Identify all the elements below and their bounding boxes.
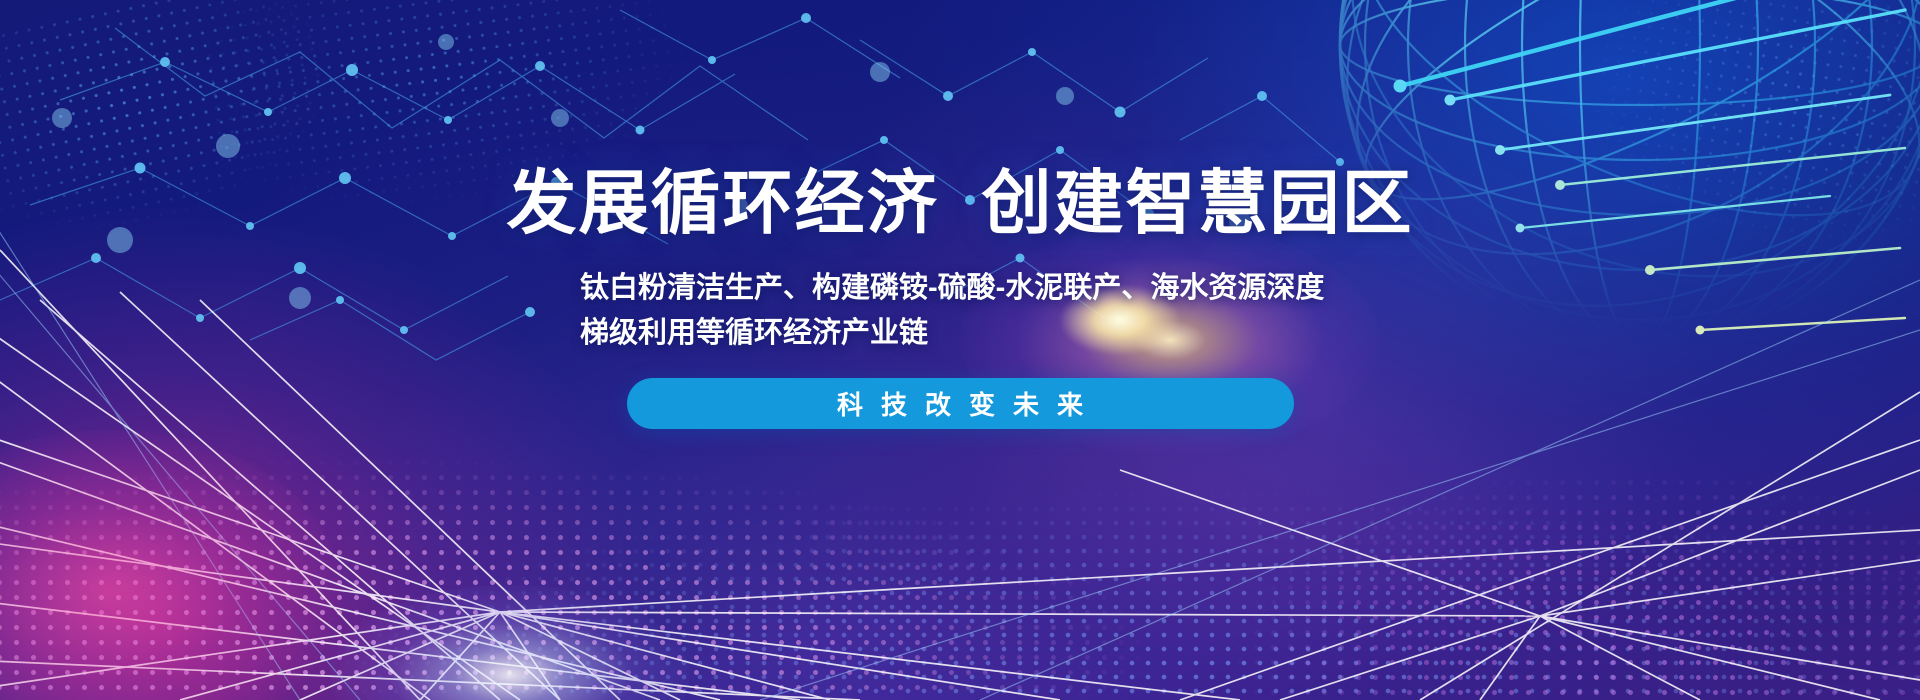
banner-content: 发展循环经济 创建智慧园区 钛白粉清洁生产、构建磷铵-硫酸-水泥联产、海水资源深… xyxy=(0,0,1920,700)
banner-subtitle-line-2: 梯级利用等循环经济产业链 xyxy=(580,311,1340,356)
banner-subtitle-line-1: 钛白粉清洁生产、构建磷铵-硫酸-水泥联产、海水资源深度 xyxy=(580,266,1340,311)
banner-headline: 发展循环经济 创建智慧园区 xyxy=(507,168,1414,238)
hero-banner: 发展循环经济 创建智慧园区 钛白粉清洁生产、构建磷铵-硫酸-水泥联产、海水资源深… xyxy=(0,0,1920,700)
cta-button[interactable]: 科技改变未来 xyxy=(627,378,1294,429)
banner-subtitle: 钛白粉清洁生产、构建磷铵-硫酸-水泥联产、海水资源深度 梯级利用等循环经济产业链 xyxy=(580,266,1340,356)
